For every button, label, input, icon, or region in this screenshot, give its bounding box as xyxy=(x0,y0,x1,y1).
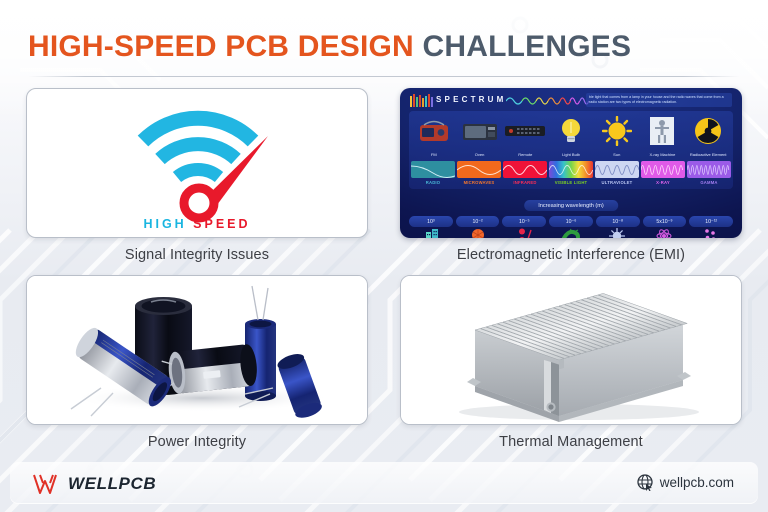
spectrum-band-5: X-RAY xyxy=(641,161,685,185)
pin-head-icon xyxy=(502,228,548,238)
spectrum-source-5: X-ray Machine xyxy=(640,111,686,157)
spectrum-band-0: RADIO xyxy=(411,161,455,185)
spectrum-wavelength-2: 10⁻⁵ xyxy=(502,216,546,227)
globe-cursor-icon xyxy=(637,474,654,491)
spectrum-band-wave-5 xyxy=(641,161,685,178)
challenge-card-grid: HIGH SPEED Signal Integrity Issues xyxy=(26,88,742,450)
spectrum-heading: SPECTRUM xyxy=(436,95,507,104)
radioactive-element-icon xyxy=(685,111,731,151)
footer-bar: WELLPCB wellpcb.com xyxy=(10,462,758,504)
building-icon xyxy=(409,228,455,238)
spectrum-band-wave-1 xyxy=(457,161,501,178)
spectrum-waves-icon xyxy=(506,94,592,107)
spectrum-band-label-2: INFRARED xyxy=(503,180,547,185)
spectrum-axis-label: Increasing wavelength (m) xyxy=(524,200,618,211)
card-caption-thermal-management: Thermal Management xyxy=(400,425,742,450)
spectrum-band-label-3: VISIBLE LIGHT xyxy=(549,180,593,185)
spectrum-source-label-5: X-ray Machine xyxy=(640,152,686,157)
spectrum-band-label-4: ULTRAVIOLET xyxy=(595,180,639,185)
spectrum-source-label-2: Remote xyxy=(502,152,548,157)
card-caption-signal-integrity: Signal Integrity Issues xyxy=(26,238,368,263)
card-caption-power-integrity: Power Integrity xyxy=(26,425,368,450)
virus-icon xyxy=(594,228,640,238)
spectrum-source-label-0: FM xyxy=(411,152,457,157)
spectrum-band-wave-3 xyxy=(549,161,593,178)
spectrum-band-wave-2 xyxy=(503,161,547,178)
spectrum-source-row: FM xyxy=(411,111,731,157)
card-thermal-management[interactable]: Thermal Management xyxy=(400,275,742,450)
spectrum-source-label-3: Light Bulb xyxy=(548,152,594,157)
card-signal-integrity[interactable]: HIGH SPEED Signal Integrity Issues xyxy=(26,88,368,263)
page-title-accent: HIGH-SPEED PCB DESIGN xyxy=(28,30,414,63)
high-speed-badge-speed: SPEED xyxy=(193,217,250,231)
spectrum-band-label-6: GAMMA xyxy=(687,180,731,185)
spectrum-band-4: ULTRAVIOLET xyxy=(595,161,639,185)
card-power-integrity[interactable]: Power Integrity xyxy=(26,275,368,450)
bacteria-icon xyxy=(548,228,594,238)
sun-icon xyxy=(594,111,640,151)
spectrum-header: SPECTRUM ble light that comes from a lam… xyxy=(408,93,734,109)
spectrum-band-wave-0 xyxy=(411,161,455,178)
spectrum-band-2: INFRARED xyxy=(503,161,547,185)
spectrum-band-row: RADIO MICROWAVES xyxy=(411,161,731,185)
light-bulb-icon xyxy=(548,111,594,151)
high-speed-badge-high: HIGH xyxy=(143,217,186,231)
high-speed-badge: HIGH SPEED xyxy=(27,217,367,231)
electrolytic-capacitors-photo xyxy=(27,276,368,425)
brand-name: WELLPCB xyxy=(68,474,156,494)
spectrum-source-0: FM xyxy=(411,111,457,157)
wifi-speedometer-icon xyxy=(27,89,367,237)
ball-icon xyxy=(455,228,501,238)
page-title-secondary: CHALLENGES xyxy=(422,30,631,63)
spectrum-source-6: Radioactive Element xyxy=(685,111,731,157)
spectrum-wavelength-3: 10⁻⁶ xyxy=(549,216,593,227)
infographic-poster: HIGH-SPEED PCB DESIGN CHALLENGES xyxy=(0,0,768,512)
spectrum-wavelength-6: 10⁻¹² xyxy=(689,216,733,227)
card-emi[interactable]: SPECTRUM ble light that comes from a lam… xyxy=(400,88,742,263)
card-image-thermal-management xyxy=(400,275,742,425)
spectrum-band-label-5: X-RAY xyxy=(641,180,685,185)
spectrum-source-label-1: Oven xyxy=(457,152,503,157)
page-title: HIGH-SPEED PCB DESIGN CHALLENGES xyxy=(28,32,631,62)
microwave-oven-icon xyxy=(457,111,503,151)
spectrum-panel: FM xyxy=(409,111,733,189)
atom-icon xyxy=(640,228,686,238)
website-link[interactable]: wellpcb.com xyxy=(637,474,734,491)
spectrum-wavelength-5: 5x10⁻⁹ xyxy=(643,216,687,227)
spectrum-source-4: Sun xyxy=(594,111,640,157)
wellpcb-w-mark xyxy=(32,472,62,496)
spectrum-source-label-6: Radioactive Element xyxy=(685,152,731,157)
card-image-emi: SPECTRUM ble light that comes from a lam… xyxy=(400,88,742,238)
xray-machine-icon xyxy=(640,111,686,151)
spectrum-band-label-0: RADIO xyxy=(411,180,455,185)
electromagnetic-spectrum-infographic: SPECTRUM ble light that comes from a lam… xyxy=(400,88,742,238)
spectrum-object-row xyxy=(409,228,733,238)
atomic-nuclei-icon xyxy=(687,228,733,238)
spectrum-source-1: Oven xyxy=(457,111,503,157)
title-divider xyxy=(28,76,740,77)
remote-control-icon xyxy=(502,111,548,151)
spectrum-source-2: Remote xyxy=(502,111,548,157)
spectrum-band-label-1: MICROWAVES xyxy=(457,180,501,185)
spectrum-wavelength-row: 10³ 10⁻² 10⁻⁵ 10⁻⁶ 10⁻⁸ 5x10⁻⁹ 10⁻¹² xyxy=(409,216,733,227)
spectrum-source-label-4: Sun xyxy=(594,152,640,157)
brand-lockup[interactable]: WELLPCB xyxy=(32,472,156,496)
radio-icon xyxy=(411,111,457,151)
spectrum-band-3: VISIBLE LIGHT xyxy=(549,161,593,185)
heatsink-photo xyxy=(401,276,742,425)
spectrum-band-wave-4 xyxy=(595,161,639,178)
spectrum-source-3: Light Bulb xyxy=(548,111,594,157)
spectrum-band-1: MICROWAVES xyxy=(457,161,501,185)
website-url: wellpcb.com xyxy=(660,475,734,490)
spectrum-bars-icon xyxy=(410,94,434,108)
spectrum-band-6: GAMMA xyxy=(687,161,731,185)
spectrum-wavelength-0: 10³ xyxy=(409,216,453,227)
spectrum-wavelength-1: 10⁻² xyxy=(456,216,500,227)
card-image-power-integrity xyxy=(26,275,368,425)
card-image-signal-integrity: HIGH SPEED xyxy=(26,88,368,238)
spectrum-note: ble light that comes from a lamp in your… xyxy=(586,93,732,107)
card-caption-emi: Electromagnetic Interference (EMI) xyxy=(400,238,742,263)
spectrum-wavelength-4: 10⁻⁸ xyxy=(596,216,640,227)
spectrum-band-wave-6 xyxy=(687,161,731,178)
